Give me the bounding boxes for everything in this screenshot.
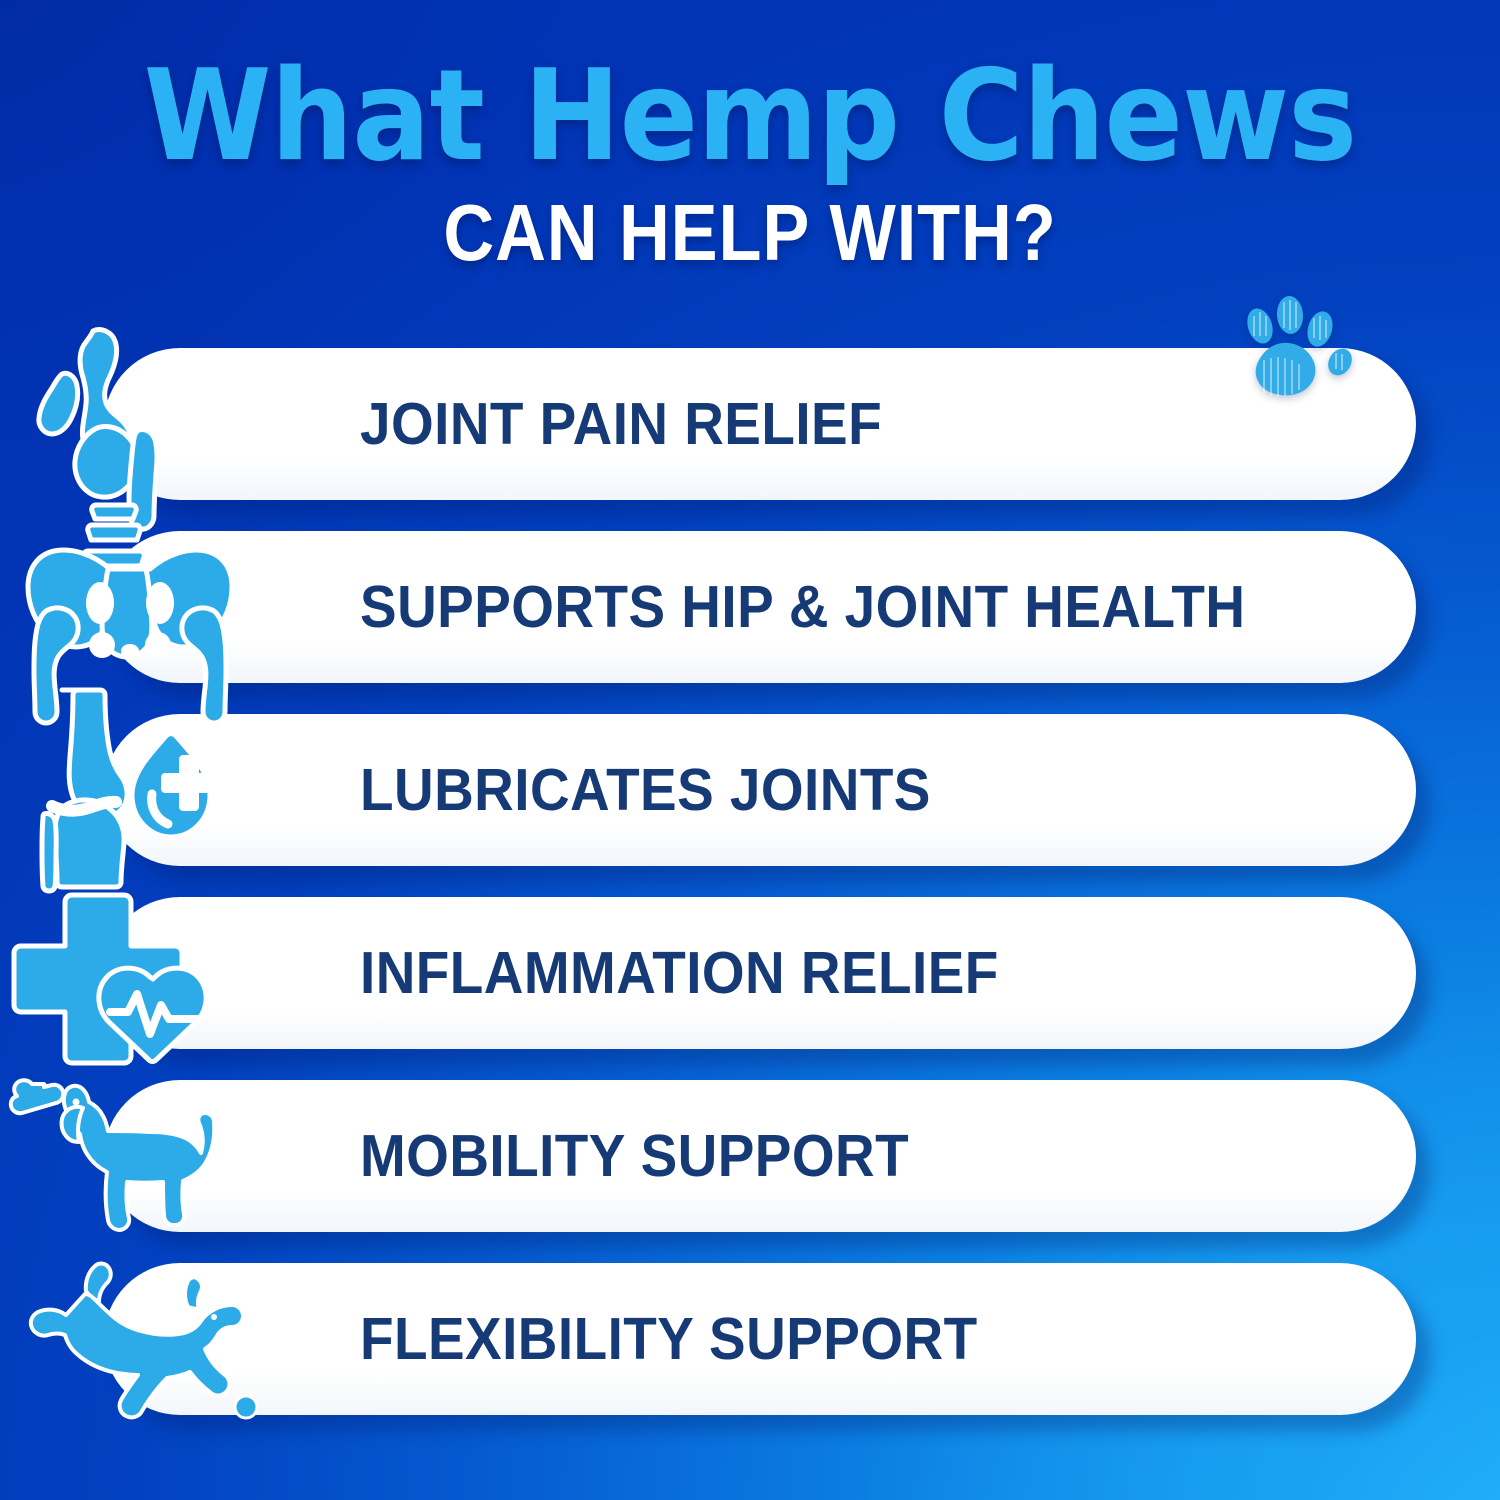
benefit-label: MOBILITY SUPPORT [360,1080,909,1232]
paw-print-icon [1238,296,1356,400]
benefit-label: SUPPORTS HIP & JOINT HEALTH [360,531,1246,683]
benefit-row-mobility-support[interactable]: MOBILITY SUPPORT [0,1080,1500,1232]
page-title: What Hemp Chews [60,52,1440,181]
benefit-row-inflammation-relief[interactable]: INFLAMMATION RELIEF [0,897,1500,1049]
benefit-label: LUBRICATES JOINTS [360,714,931,866]
infographic-poster: What Hemp Chews CAN HELP WITH? [0,0,1500,1500]
header: What Hemp Chews CAN HELP WITH? [0,52,1500,273]
benefit-label: INFLAMMATION RELIEF [360,897,999,1049]
benefit-label: JOINT PAIN RELIEF [360,348,882,500]
page-subtitle: CAN HELP WITH? [90,193,1410,273]
benefit-row-lubricates-joints[interactable]: LUBRICATES JOINTS [0,714,1500,866]
benefit-label: FLEXIBILITY SUPPORT [360,1263,978,1415]
benefit-row-hip-joint-health[interactable]: SUPPORTS HIP & JOINT HEALTH [0,531,1500,683]
benefit-row-flexibility-support[interactable]: FLEXIBILITY SUPPORT [0,1263,1500,1415]
benefits-list: JOINT PAIN RELIEF [0,348,1500,1446]
